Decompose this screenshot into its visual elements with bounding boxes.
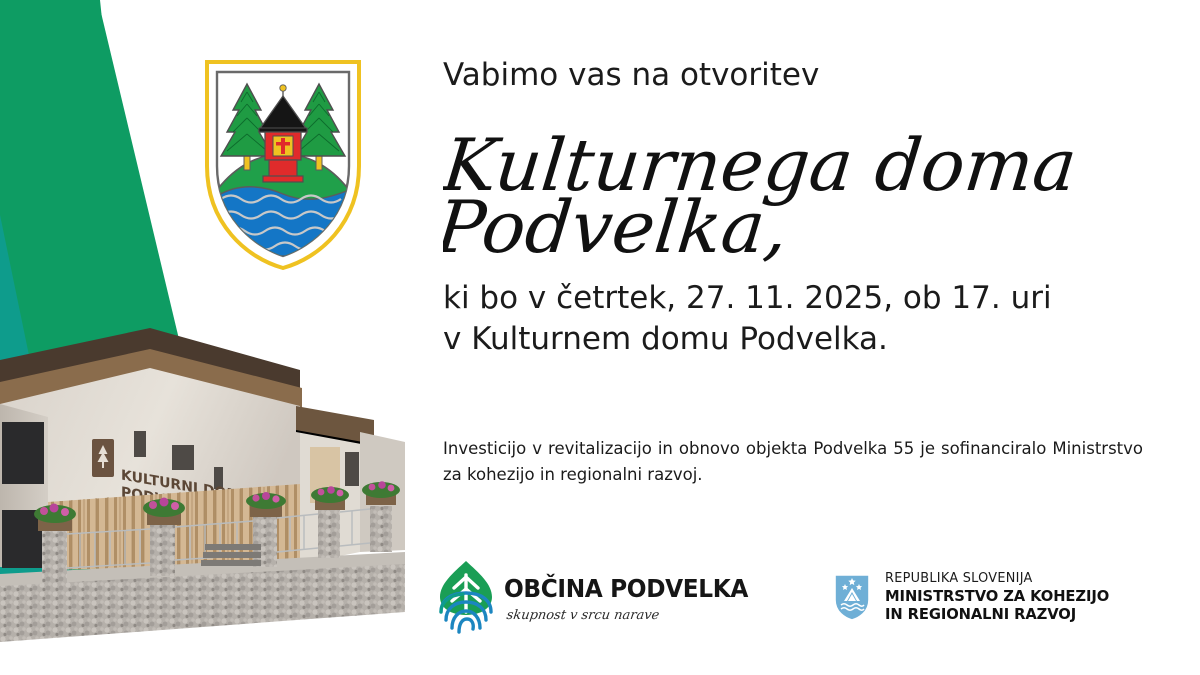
stone-pillar bbox=[370, 506, 392, 552]
stone-pillar bbox=[318, 510, 340, 558]
stone-pillar bbox=[42, 530, 67, 584]
shrine-base bbox=[263, 176, 303, 182]
window bbox=[172, 445, 194, 470]
window-large bbox=[2, 422, 44, 484]
ministry-line-2: IN REGIONALNI RAZVOJ bbox=[885, 605, 1109, 623]
window-large bbox=[2, 510, 42, 568]
municipal-coat-of-arms bbox=[203, 58, 363, 270]
planter bbox=[362, 481, 400, 505]
obcina-podvelka-logo: OBČINA PODVELKA skupnost v srcu narave bbox=[438, 560, 766, 634]
ministry-logo: REPUBLIKA SLOVENIJA MINISTRSTVO ZA KOHEZ… bbox=[832, 571, 1121, 623]
ministry-line-1: MINISTRSTVO ZA KOHEZIJO bbox=[885, 587, 1109, 605]
invitation-poster: KULTURNI DOM PODVELKA bbox=[0, 0, 1200, 675]
planter bbox=[246, 492, 286, 517]
stone-pillar bbox=[150, 524, 175, 576]
slovenia-coat-of-arms-icon bbox=[832, 572, 872, 622]
obcina-tagline: skupnost v srcu narave bbox=[504, 606, 766, 622]
entrance-stairs bbox=[201, 544, 261, 566]
funding-note-text: Investicijo v revitalizacijo in obnovo o… bbox=[443, 436, 1143, 487]
event-venue-line: v Kulturnem domu Podvelka. bbox=[443, 319, 1163, 360]
window bbox=[345, 452, 359, 486]
obcina-wordmark: OBČINA PODVELKA skupnost v srcu narave bbox=[504, 572, 766, 622]
window bbox=[134, 431, 146, 457]
event-title-script: Kulturnega doma Podvelka, bbox=[443, 112, 1143, 272]
event-datetime-line: ki bo v četrtek, 27. 11. 2025, ob 17. ur… bbox=[443, 278, 1163, 319]
ministry-country: REPUBLIKA SLOVENIJA bbox=[885, 571, 1109, 587]
tree-fingerprint-icon bbox=[438, 560, 494, 634]
planter bbox=[311, 486, 349, 510]
funding-note: Investicijo v revitalizacijo in obnovo o… bbox=[443, 436, 1143, 487]
building-visualisation: KULTURNI DOM PODVELKA bbox=[0, 312, 405, 675]
planter bbox=[143, 498, 185, 526]
ministry-text-block: REPUBLIKA SLOVENIJA MINISTRSTVO ZA KOHEZ… bbox=[885, 571, 1121, 623]
invitation-text-column: Vabimo vas na otvoritev Kulturnega doma … bbox=[443, 58, 1163, 359]
planter bbox=[34, 504, 76, 532]
logo-row: OBČINA PODVELKA skupnost v srcu narave bbox=[438, 560, 1121, 634]
event-title-line2: Podvelka, bbox=[443, 186, 792, 270]
obcina-name: OBČINA PODVELKA bbox=[504, 576, 748, 601]
invite-intro-line: Vabimo vas na otvoritev bbox=[443, 58, 1163, 94]
stone-pillar bbox=[253, 517, 277, 567]
obcina-tagline-text: skupnost v srcu narave bbox=[506, 608, 661, 622]
